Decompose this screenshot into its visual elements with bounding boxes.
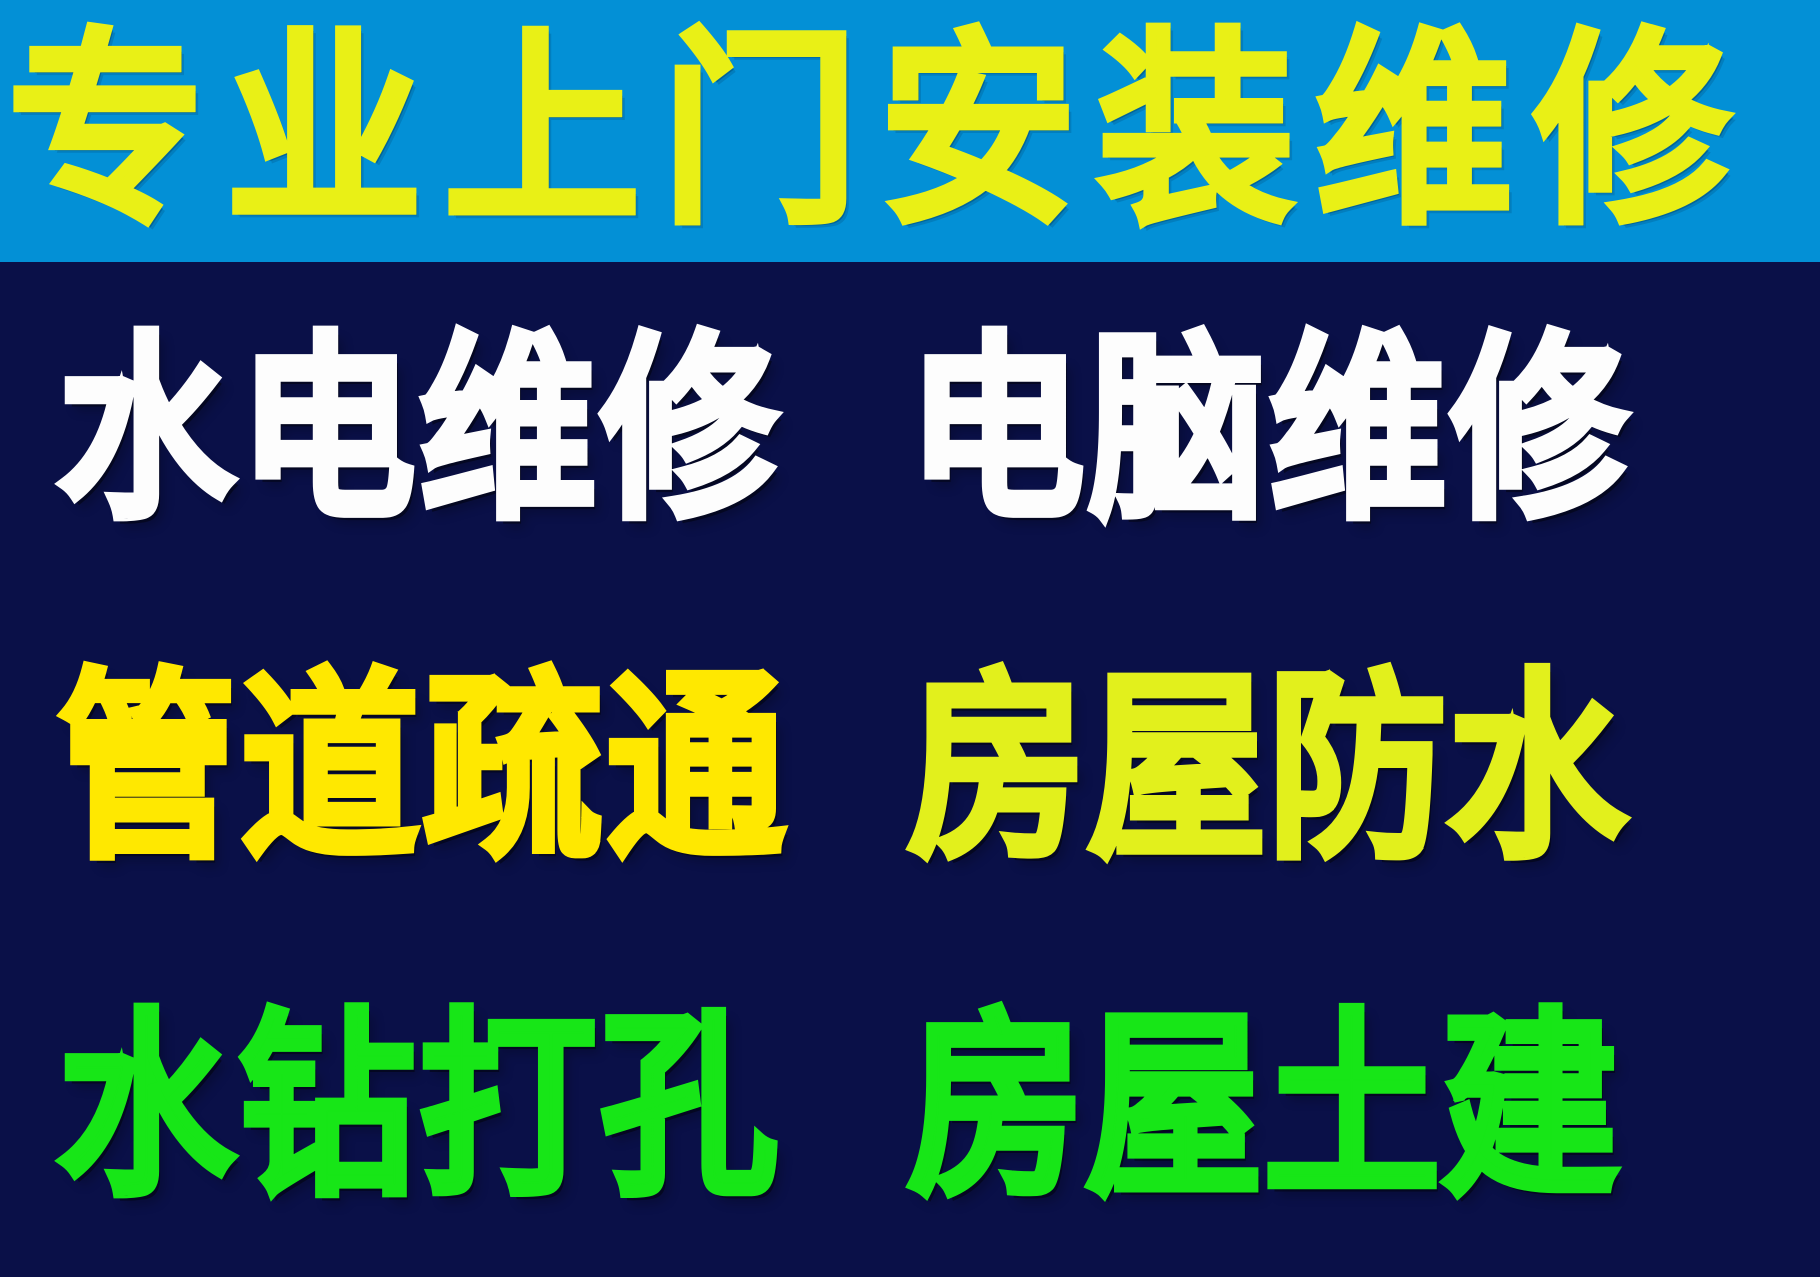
banner-title: 专业上门安装维修: [8, 0, 1820, 262]
header-banner: 专业上门安装维修: [0, 0, 1820, 262]
service-label: 电脑维修: [908, 332, 1632, 531]
service-item-pipe-unclogging[interactable]: 管道疏通: [0, 600, 890, 938]
service-label: 房屋防水: [908, 669, 1628, 870]
service-item-house-waterproofing[interactable]: 房屋防水: [890, 600, 1820, 938]
service-item-house-civil-construction[interactable]: 房屋土建: [890, 939, 1820, 1277]
service-label: 水钻打孔: [58, 1008, 782, 1207]
service-item-computer-repair[interactable]: 电脑维修: [890, 262, 1820, 600]
service-advertisement-poster: 专业上门安装维修 水电维修 电脑维修 管道疏通 房屋防水 水钻打孔 房屋土建: [0, 0, 1820, 1277]
service-grid: 水电维修 电脑维修 管道疏通 房屋防水 水钻打孔 房屋土建: [0, 262, 1820, 1277]
service-label: 管道疏通: [58, 669, 790, 870]
service-label: 房屋土建: [908, 1008, 1620, 1207]
service-item-water-electric-repair[interactable]: 水电维修: [0, 262, 890, 600]
service-label: 水电维修: [58, 332, 782, 531]
service-item-core-drilling[interactable]: 水钻打孔: [0, 939, 890, 1277]
